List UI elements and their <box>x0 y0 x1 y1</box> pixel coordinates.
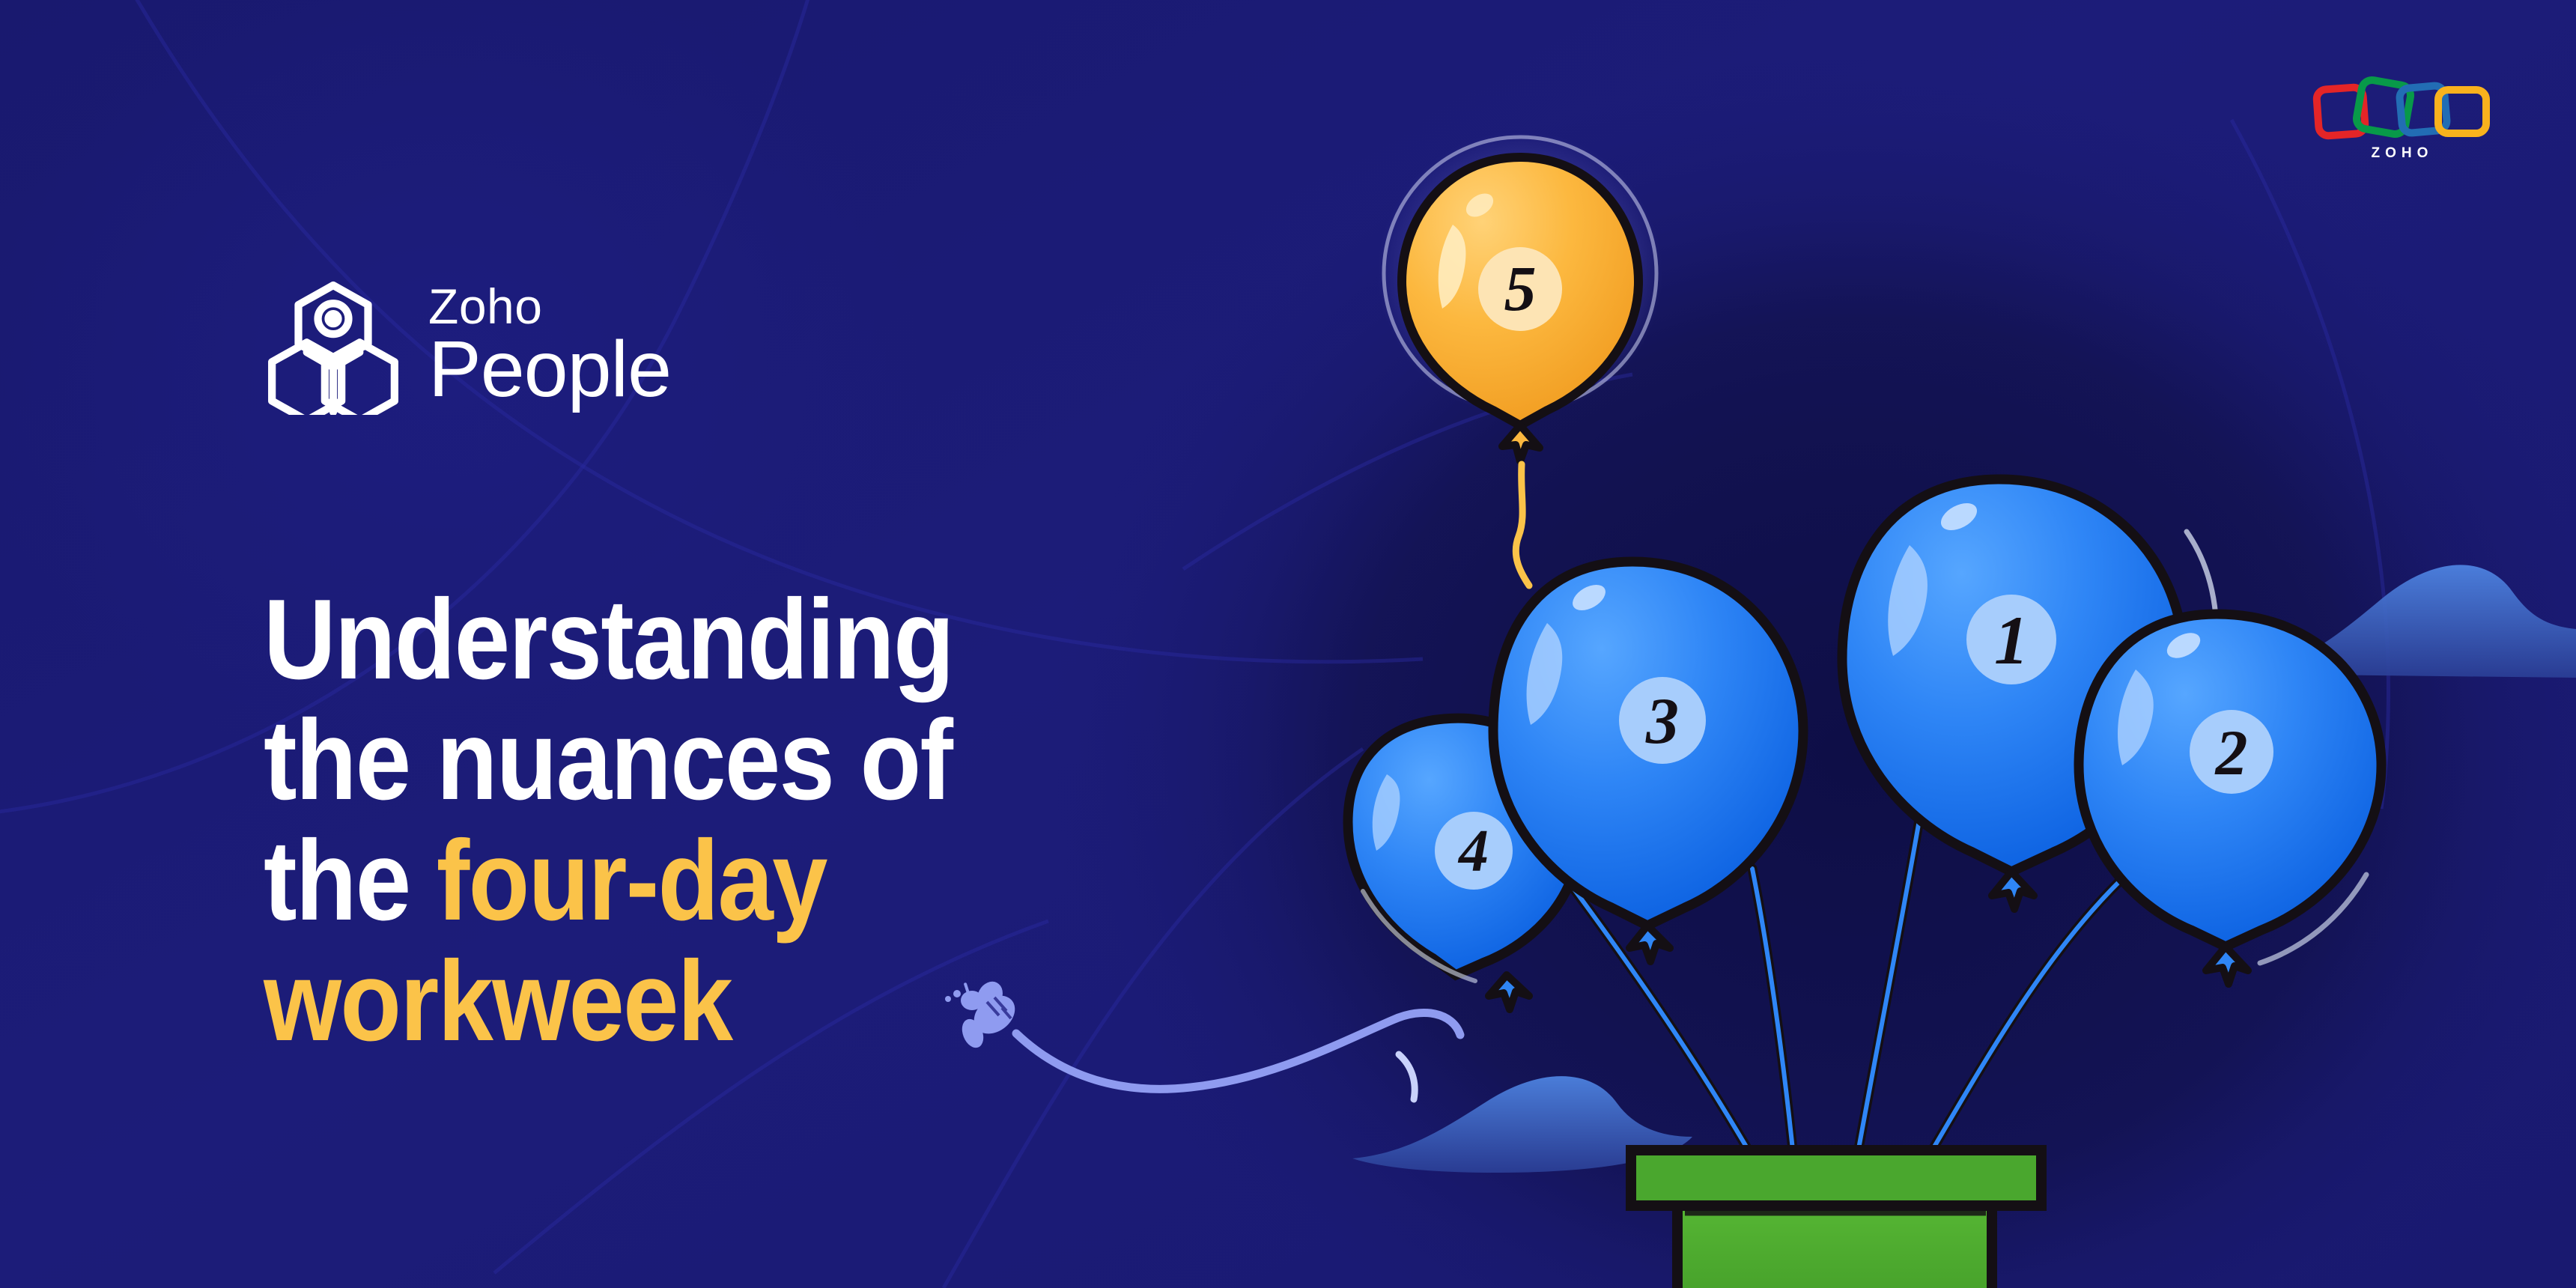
balloon-2: 2 <box>2079 614 2381 984</box>
balloon-5: 5 <box>1378 131 1662 586</box>
balloon-1-number: 1 <box>1994 602 2029 678</box>
zoho-people-wordmark-people: People <box>428 329 671 409</box>
green-gift-box <box>1631 1150 2041 1288</box>
headline-line-3: the four-day <box>264 821 1226 941</box>
zoho-people-hexagon-mark <box>264 276 403 415</box>
balloon-3-knot <box>1629 926 1670 962</box>
balloon-5-string <box>1516 464 1529 586</box>
zoho-people-wordmark: Zoho People <box>428 282 671 409</box>
zoho-people-logo[interactable]: Zoho People <box>264 276 671 415</box>
headline-line-3-plain: the <box>264 817 437 944</box>
balloon-4-number: 4 <box>1457 818 1489 884</box>
balloons-illustration: 5 4 3 <box>1333 112 2576 1288</box>
balloon-2-knot <box>2206 947 2248 984</box>
headline: Understanding the nuances of the four-da… <box>264 580 1226 1062</box>
balloon-5-number: 5 <box>1504 252 1537 324</box>
gift-box-lid <box>1631 1150 2041 1206</box>
headline-line-4-accent: workweek <box>264 941 1226 1062</box>
headline-line-1: Understanding <box>264 580 1226 700</box>
balloon-4-knot <box>1489 975 1529 1009</box>
balloon-2-number: 2 <box>2214 717 2248 789</box>
headline-line-3-accent: four-day <box>437 817 827 944</box>
balloon-3-number: 3 <box>1645 685 1679 758</box>
balloon-1-knot <box>1992 872 2034 909</box>
zoho-people-wordmark-zoho: Zoho <box>428 282 671 331</box>
balloon-5-knot <box>1502 425 1540 461</box>
banner-canvas: Zoho People Understanding the nuances of… <box>0 0 2576 1288</box>
headline-line-2: the nuances of <box>264 700 1226 821</box>
